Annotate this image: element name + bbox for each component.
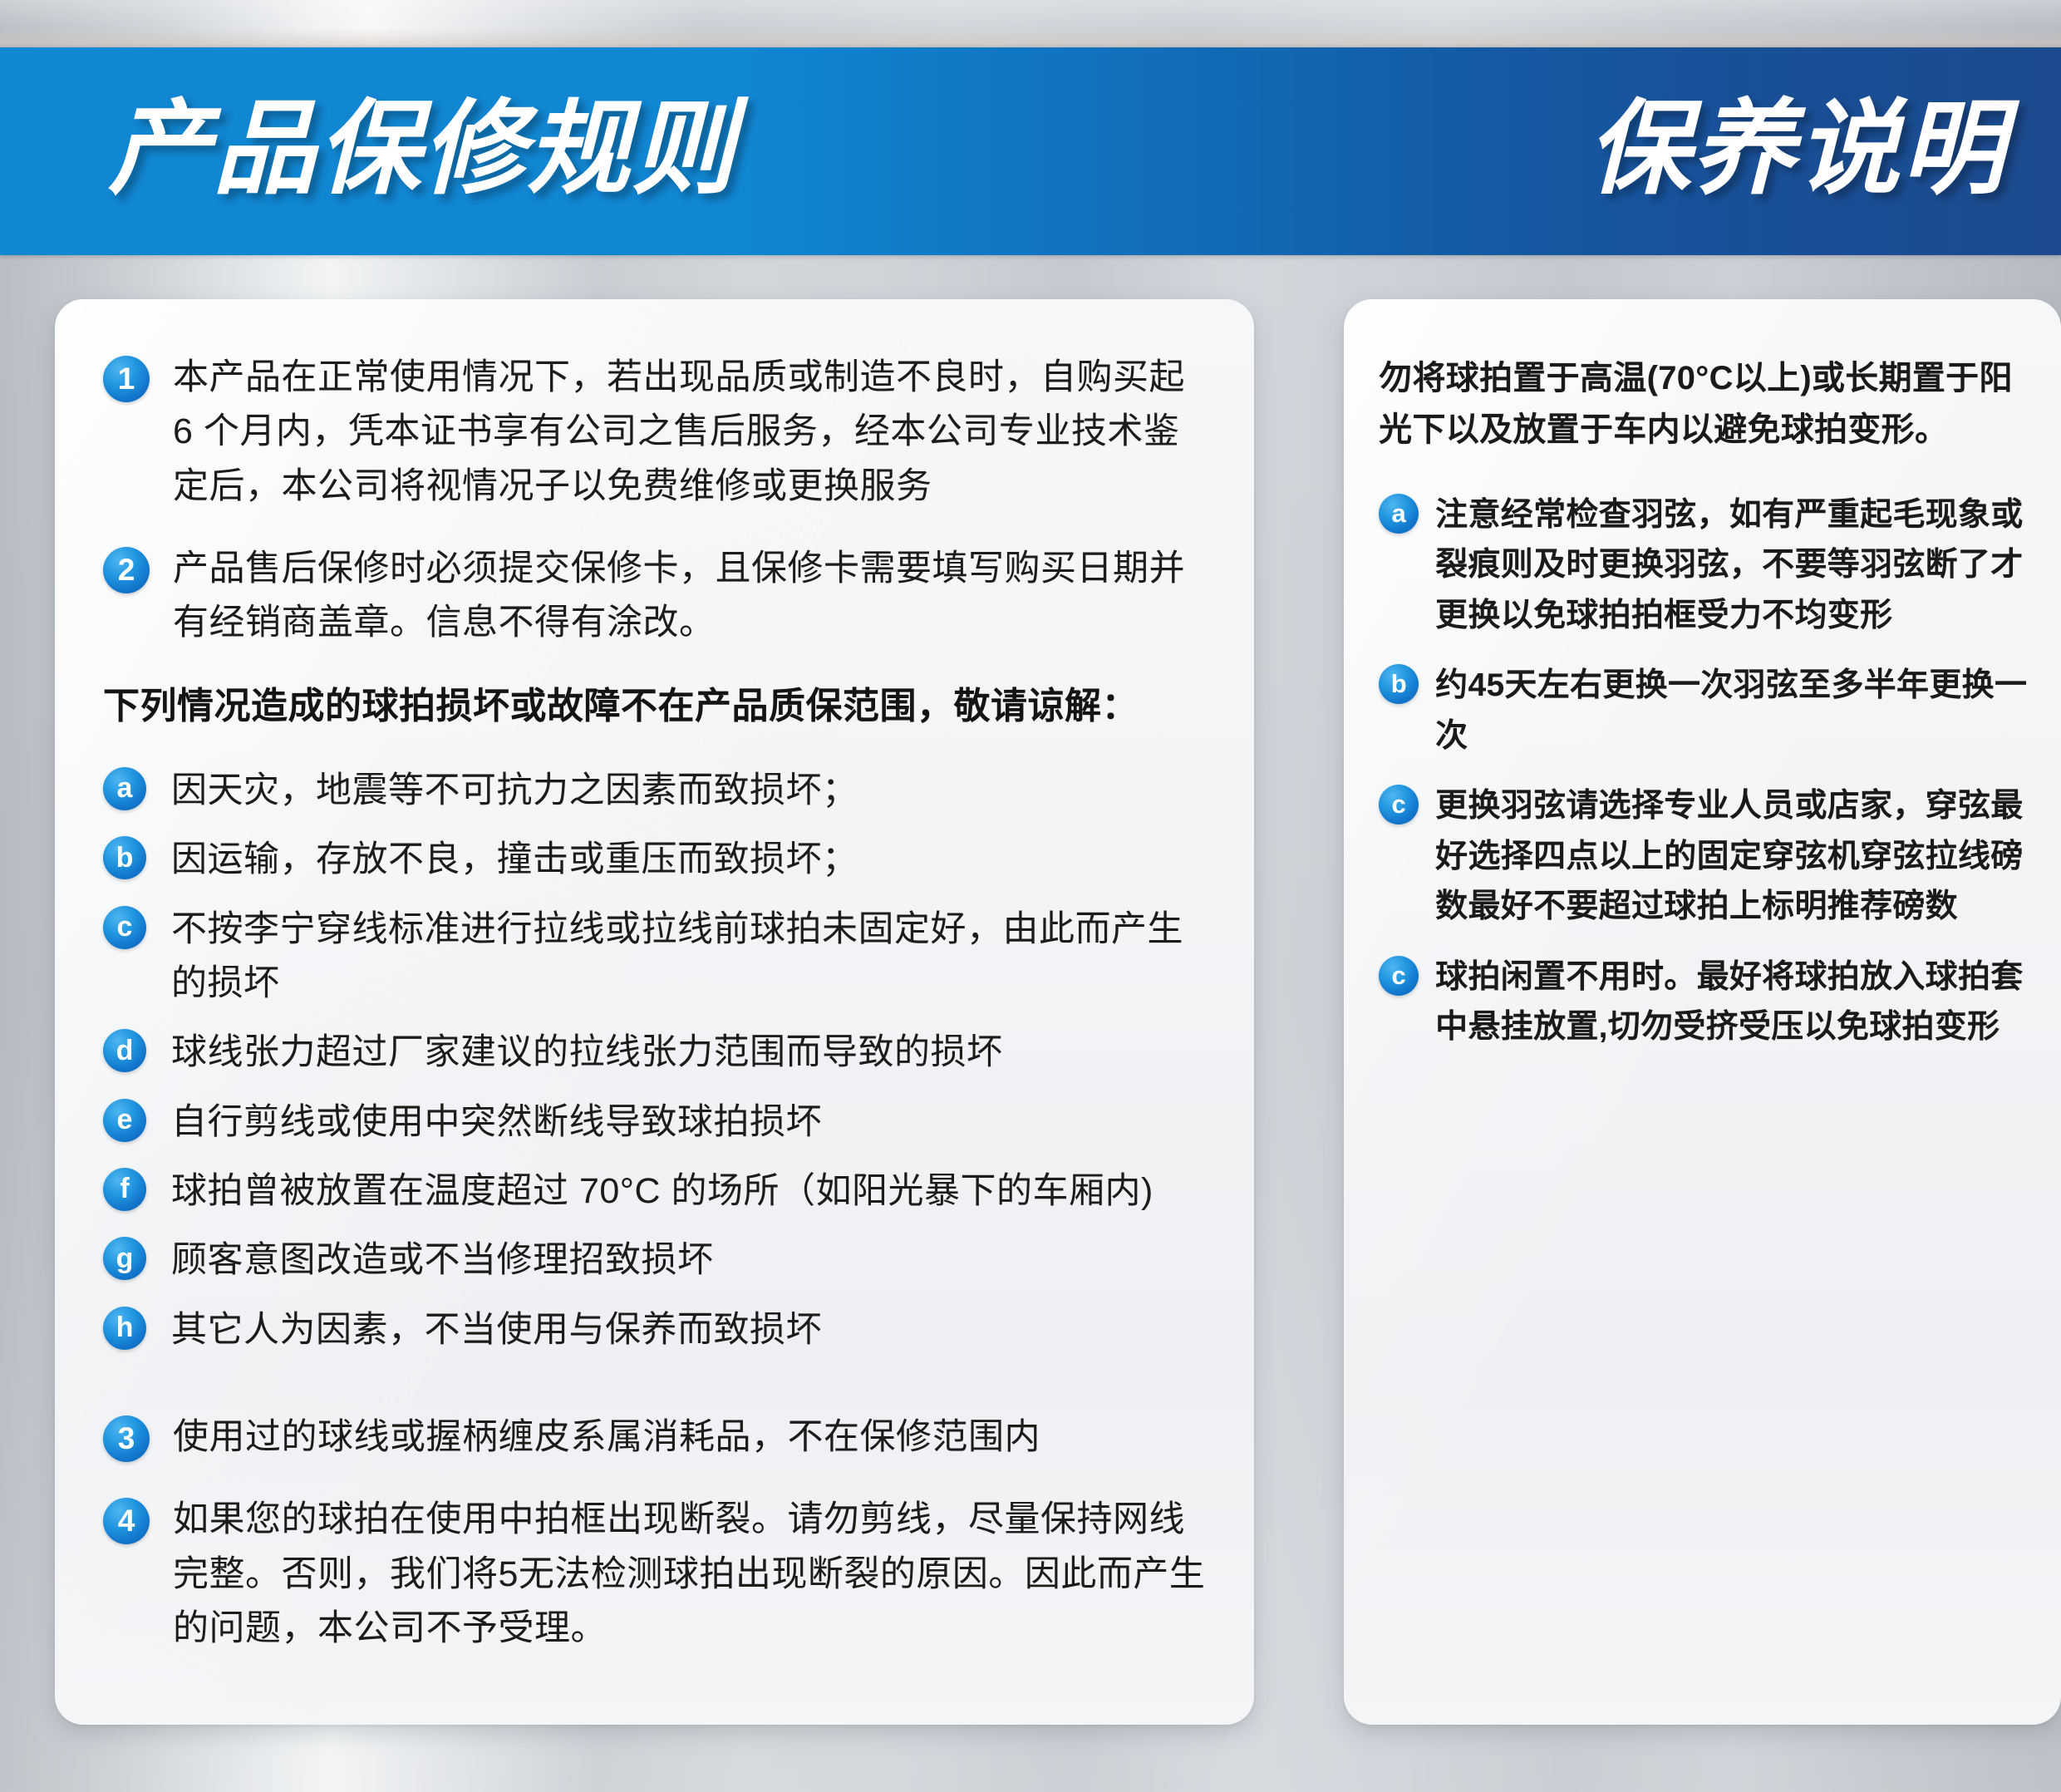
warranty-exclusion-d: d 球线张力超过厂家建议的拉线张力范围而导致的损坏 xyxy=(103,1026,1211,1080)
maintenance-item-d-text: 球拍闲置不用时。最好将球拍放入球拍套中悬挂放置,切勿受挤受压以免球拍变形 xyxy=(1435,953,2028,1053)
warranty-exclusion-a-text: 因天灾，地震等不可抗力之因素而致损坏； xyxy=(171,764,858,818)
warranty-item-3: 3 使用过的球线或握柄缠皮系属消耗品，不在保修范围内 xyxy=(103,1410,1211,1465)
banner-inner: 产品保修规则 保养说明 xyxy=(0,47,2061,255)
warranty-exclusion-c: c 不按李宁穿线标准进行拉线或拉线前球拍未固定好，由此而产生的损坏 xyxy=(103,903,1211,1012)
maintenance-item-b: b 约45天左右更换一次羽弦至多半年更换一次 xyxy=(1379,661,2028,761)
maintenance-item-c: c 更换羽弦请选择专业人员或店家，穿弦最好选择四点以上的固定穿弦机穿弦拉线磅数最… xyxy=(1379,781,2028,932)
badge-number-3: 3 xyxy=(103,1415,150,1462)
top-metal-strip xyxy=(0,0,2061,47)
header-banner: 产品保修规则 保养说明 xyxy=(0,47,2061,255)
maintenance-lead-text: 勿将球拍置于高温(70°C以上)或长期置于阳光下以及放置于车内以避免球拍变形。 xyxy=(1379,352,2028,455)
badge-letter-d: d xyxy=(103,1029,146,1072)
badge-letter-g: g xyxy=(103,1237,146,1280)
warranty-card: 1 本产品在正常使用情况下，若出现品质或制造不良时，自购买起 6 个月内，凭本证… xyxy=(55,299,1254,1725)
maintenance-item-d: c 球拍闲置不用时。最好将球拍放入球拍套中悬挂放置,切勿受挤受压以免球拍变形 xyxy=(1379,953,2028,1053)
badge-letter-h: h xyxy=(103,1307,146,1350)
badge-number-1: 1 xyxy=(103,356,150,402)
warranty-exclusion-b: b 因运输，存放不良，撞击或重压而致损坏； xyxy=(103,833,1211,887)
badge-letter-c-2: c xyxy=(1379,956,1419,996)
warranty-exclusion-h-text: 其它人为因素，不当使用与保养而致损坏 xyxy=(171,1303,822,1357)
warranty-exclusion-c-text: 不按李宁穿线标准进行拉线或拉线前球拍未固定好，由此而产生的损坏 xyxy=(171,903,1211,1012)
badge-letter-e: e xyxy=(103,1099,146,1142)
badge-number-2: 2 xyxy=(103,547,150,593)
badge-letter-c: c xyxy=(1379,785,1419,825)
cards-row: 1 本产品在正常使用情况下，若出现品质或制造不良时，自购买起 6 个月内，凭本证… xyxy=(0,299,2061,1725)
warranty-item-1: 1 本产品在正常使用情况下，若出现品质或制造不良时，自购买起 6 个月内，凭本证… xyxy=(103,351,1211,514)
warranty-item-4-text: 如果您的球拍在使用中拍框出现断裂。请勿剪线，尽量保持网线完整。否则，我们将5无法… xyxy=(173,1493,1211,1656)
page-root: 产品保修规则 保养说明 1 本产品在正常使用情况下，若出现品质或制造不良时，自购… xyxy=(0,0,2061,1792)
warranty-exclusion-h: h 其它人为因素，不当使用与保养而致损坏 xyxy=(103,1303,1211,1357)
warranty-exclusion-a: a 因天灾，地震等不可抗力之因素而致损坏； xyxy=(103,764,1211,818)
maintenance-card: 勿将球拍置于高温(70°C以上)或长期置于阳光下以及放置于车内以避免球拍变形。 … xyxy=(1344,299,2061,1725)
warranty-item-2: 2 产品售后保修时必须提交保修卡，且保修卡需要填写购买日期并有经销商盖章。信息不… xyxy=(103,542,1211,651)
banner-title-maintenance: 保养说明 xyxy=(1587,98,2006,201)
badge-letter-a: a xyxy=(1379,494,1419,534)
badge-number-4: 4 xyxy=(103,1498,150,1544)
warranty-exclusion-d-text: 球线张力超过厂家建议的拉线张力范围而导致的损坏 xyxy=(171,1026,1003,1080)
warranty-item-1-text: 本产品在正常使用情况下，若出现品质或制造不良时，自购买起 6 个月内，凭本证书享… xyxy=(173,351,1211,514)
maintenance-item-a: a 注意经常检查羽弦，如有严重起毛现象或裂痕则及时更换羽弦，不要等羽弦断了才更换… xyxy=(1379,490,2028,641)
warranty-exclusion-f-text: 球拍曾被放置在温度超过 70°C 的场所（如阳光暴下的车厢内) xyxy=(171,1164,1153,1218)
warranty-item-4: 4 如果您的球拍在使用中拍框出现断裂。请勿剪线，尽量保持网线完整。否则，我们将5… xyxy=(103,1493,1211,1656)
warranty-exclusion-f: f 球拍曾被放置在温度超过 70°C 的场所（如阳光暴下的车厢内) xyxy=(103,1164,1211,1218)
warranty-item-2-text: 产品售后保修时必须提交保修卡，且保修卡需要填写购买日期并有经销商盖章。信息不得有… xyxy=(173,542,1211,651)
badge-letter-f: f xyxy=(103,1168,146,1211)
warranty-exclusion-b-text: 因运输，存放不良，撞击或重压而致损坏； xyxy=(171,833,858,887)
warranty-exclusion-g: g 顾客意图改造或不当修理招致损坏 xyxy=(103,1233,1211,1287)
maintenance-item-a-text: 注意经常检查羽弦，如有严重起毛现象或裂痕则及时更换羽弦，不要等羽弦断了才更换以免… xyxy=(1435,490,2028,641)
warranty-item-3-text: 使用过的球线或握柄缠皮系属消耗品，不在保修范围内 xyxy=(173,1410,1040,1465)
badge-letter-a: a xyxy=(103,767,146,810)
banner-title-warranty: 产品保修规则 xyxy=(108,98,736,201)
warranty-exclusion-e-text: 自行剪线或使用中突然断线导致球拍损坏 xyxy=(171,1095,822,1150)
warranty-exclusion-g-text: 顾客意图改造或不当修理招致损坏 xyxy=(171,1233,714,1287)
badge-letter-b: b xyxy=(1379,664,1419,704)
maintenance-item-b-text: 约45天左右更换一次羽弦至多半年更换一次 xyxy=(1435,661,2028,761)
warranty-exclusion-note: 下列情况造成的球拍损坏或故障不在产品质保范围，敬请谅解： xyxy=(103,679,1211,734)
badge-letter-c: c xyxy=(103,906,146,949)
warranty-exclusion-e: e 自行剪线或使用中突然断线导致球拍损坏 xyxy=(103,1095,1211,1150)
maintenance-item-c-text: 更换羽弦请选择专业人员或店家，穿弦最好选择四点以上的固定穿弦机穿弦拉线磅数最好不… xyxy=(1435,781,2028,932)
badge-letter-b: b xyxy=(103,836,146,879)
spacer xyxy=(103,1372,1211,1410)
